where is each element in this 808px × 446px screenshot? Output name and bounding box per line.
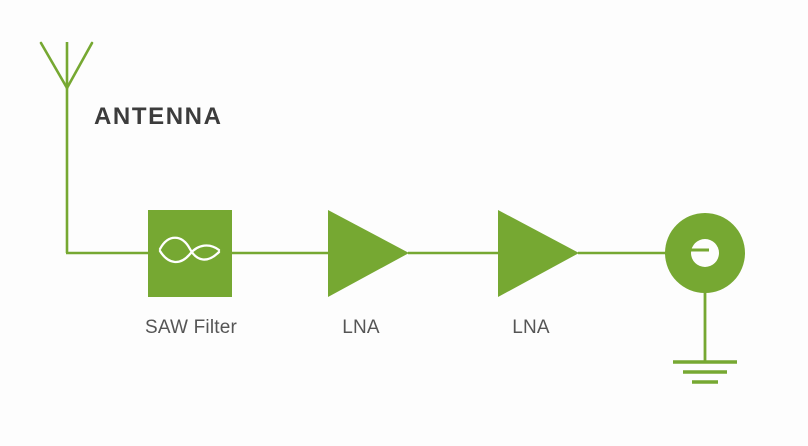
lna-2-label: LNA — [481, 317, 581, 339]
ground-icon — [673, 292, 737, 382]
saw-filter-block[interactable] — [148, 210, 232, 297]
lna-1-label: LNA — [311, 317, 411, 339]
amplifier-triangle-icon — [328, 210, 409, 297]
amplifier-triangle-icon — [498, 210, 579, 297]
saw-filter-label: SAW Filter — [132, 317, 250, 339]
antenna-title: ANTENNA — [94, 103, 223, 131]
antenna-icon[interactable] — [41, 42, 92, 253]
output-connector[interactable] — [665, 213, 745, 293]
lna-2-block[interactable] — [498, 210, 579, 297]
lna-1-block[interactable] — [328, 210, 409, 297]
connector-inner-hole — [691, 239, 719, 267]
antenna-right-arm — [67, 43, 92, 88]
antenna-left-arm — [41, 43, 67, 88]
rf-front-end-block-diagram: ANTENNA SAW Filter LNA LNA — [0, 0, 808, 446]
diagram-canvas — [0, 0, 808, 446]
